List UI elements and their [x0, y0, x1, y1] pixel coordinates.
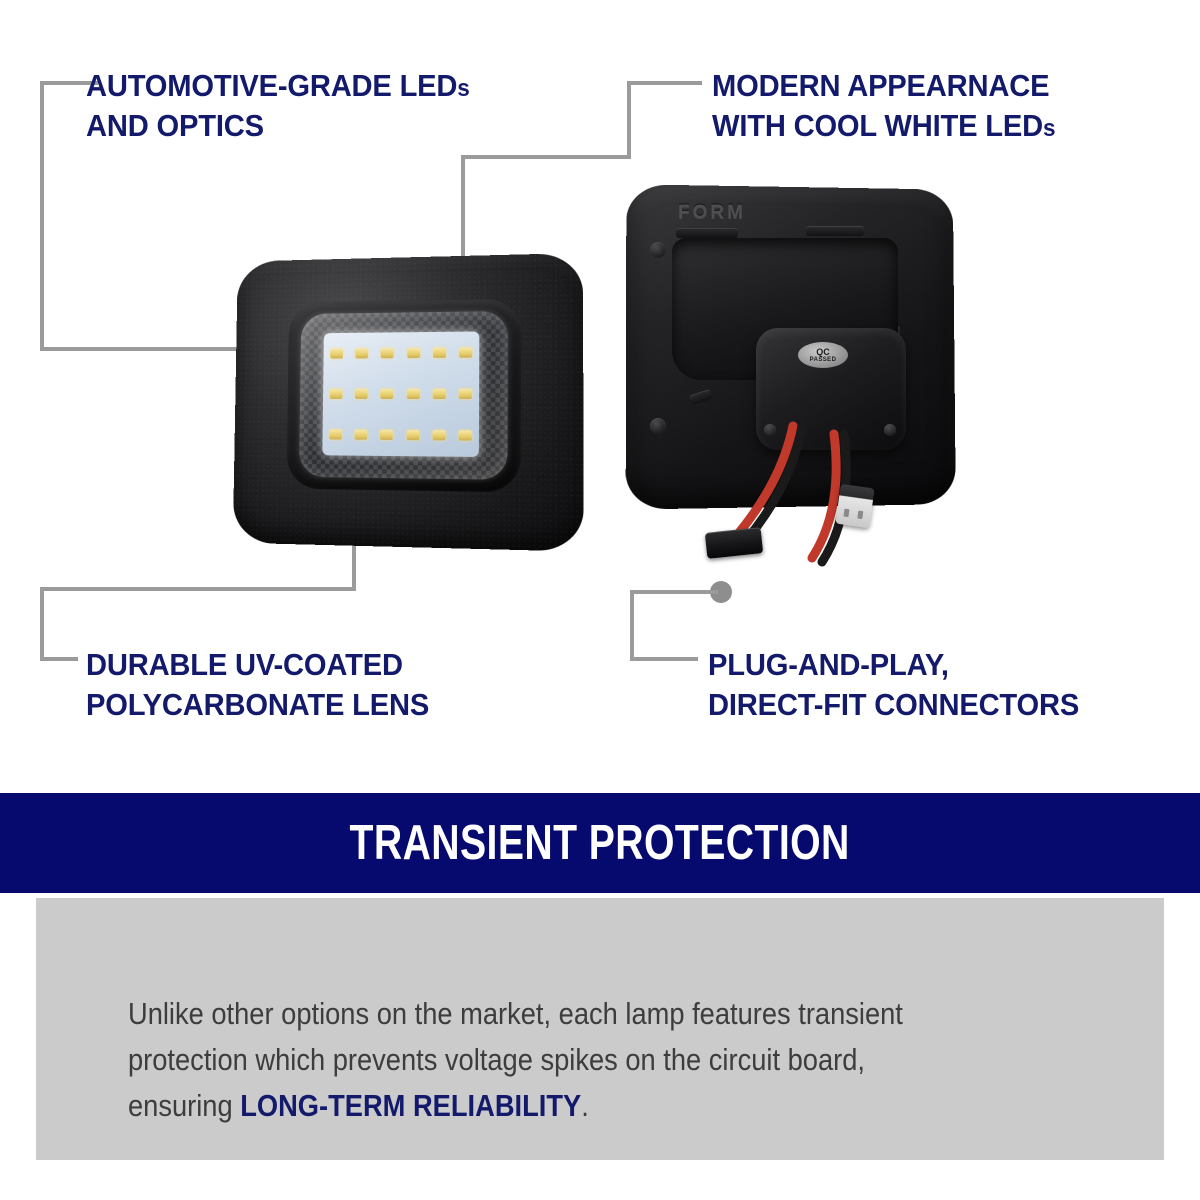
qc-passed-sticker: QC PASSED [798, 342, 848, 368]
led-chip [330, 348, 343, 358]
transient-protection-banner: TRANSIENT PROTECTION [0, 793, 1200, 893]
callout-line-segment [627, 81, 631, 159]
led-chip [433, 347, 446, 357]
led-chip [381, 348, 394, 358]
led-chip [381, 389, 394, 399]
qc-sticker-line2: PASSED [810, 357, 837, 363]
led-chip [407, 389, 420, 399]
mount-boss [650, 242, 666, 258]
led-panel [322, 331, 479, 456]
led-chip [459, 347, 472, 357]
led-chip [459, 389, 472, 399]
retaining-clip [806, 226, 864, 236]
lamp-bezel [286, 299, 521, 493]
led-chip [354, 430, 367, 440]
description-text-part2: . [581, 1088, 589, 1123]
led-chip [355, 389, 368, 399]
callout-label-durable-uv-coated-lens: DURABLE UV-COATEDPOLYCARBONATE LENS [86, 645, 575, 726]
callout-label-automotive-grade-leds: AUTOMOTIVE-GRADE LEDsAND OPTICS [86, 66, 575, 147]
description-panel: Unlike other options on the market, each… [36, 898, 1164, 1160]
description-highlight: LONG-TERM RELIABILITY [240, 1088, 581, 1123]
qc-sticker-line1: QC [816, 348, 830, 357]
callout-line-segment [627, 81, 702, 85]
callout-line-segment [461, 155, 631, 159]
led-chip [432, 431, 445, 441]
led-chip [406, 430, 419, 440]
callout-line-segment [40, 81, 44, 351]
banner-title: TRANSIENT PROTECTION [350, 815, 850, 871]
led-chip [433, 389, 446, 399]
features-section: AUTOMOTIVE-GRADE LEDsAND OPTICS MODERN A… [0, 0, 1200, 790]
led-chip [355, 348, 368, 358]
callout-line-segment [40, 657, 78, 661]
brand-emboss-form: FORM [678, 202, 746, 224]
led-chip [380, 430, 393, 440]
infographic-page: AUTOMOTIVE-GRADE LEDsAND OPTICS MODERN A… [0, 0, 1200, 1200]
led-chip [407, 348, 420, 358]
callout-label-modern-appearance: MODERN APPEARNACEWITH COOL WHITE LEDs [712, 66, 1154, 147]
product-image-lamp-front [228, 256, 580, 546]
callout-line-segment [40, 587, 356, 591]
white-connector [835, 484, 874, 528]
led-chip [459, 431, 472, 441]
led-chip [329, 389, 342, 399]
polycarbonate-lens [299, 311, 508, 480]
description-paragraph: Unlike other options on the market, each… [128, 991, 973, 1129]
callout-line-segment [630, 657, 698, 661]
callout-label-plug-and-play-connectors: PLUG-AND-PLAY,DIRECT-FIT CONNECTORS [708, 645, 1150, 726]
connector-pin [857, 511, 863, 520]
connector-pin [843, 509, 849, 518]
product-image-lamp-back: FORM QC PASSED [628, 186, 958, 506]
led-chip [329, 430, 342, 440]
callout-line-segment [40, 587, 44, 661]
retaining-clip [676, 228, 738, 238]
